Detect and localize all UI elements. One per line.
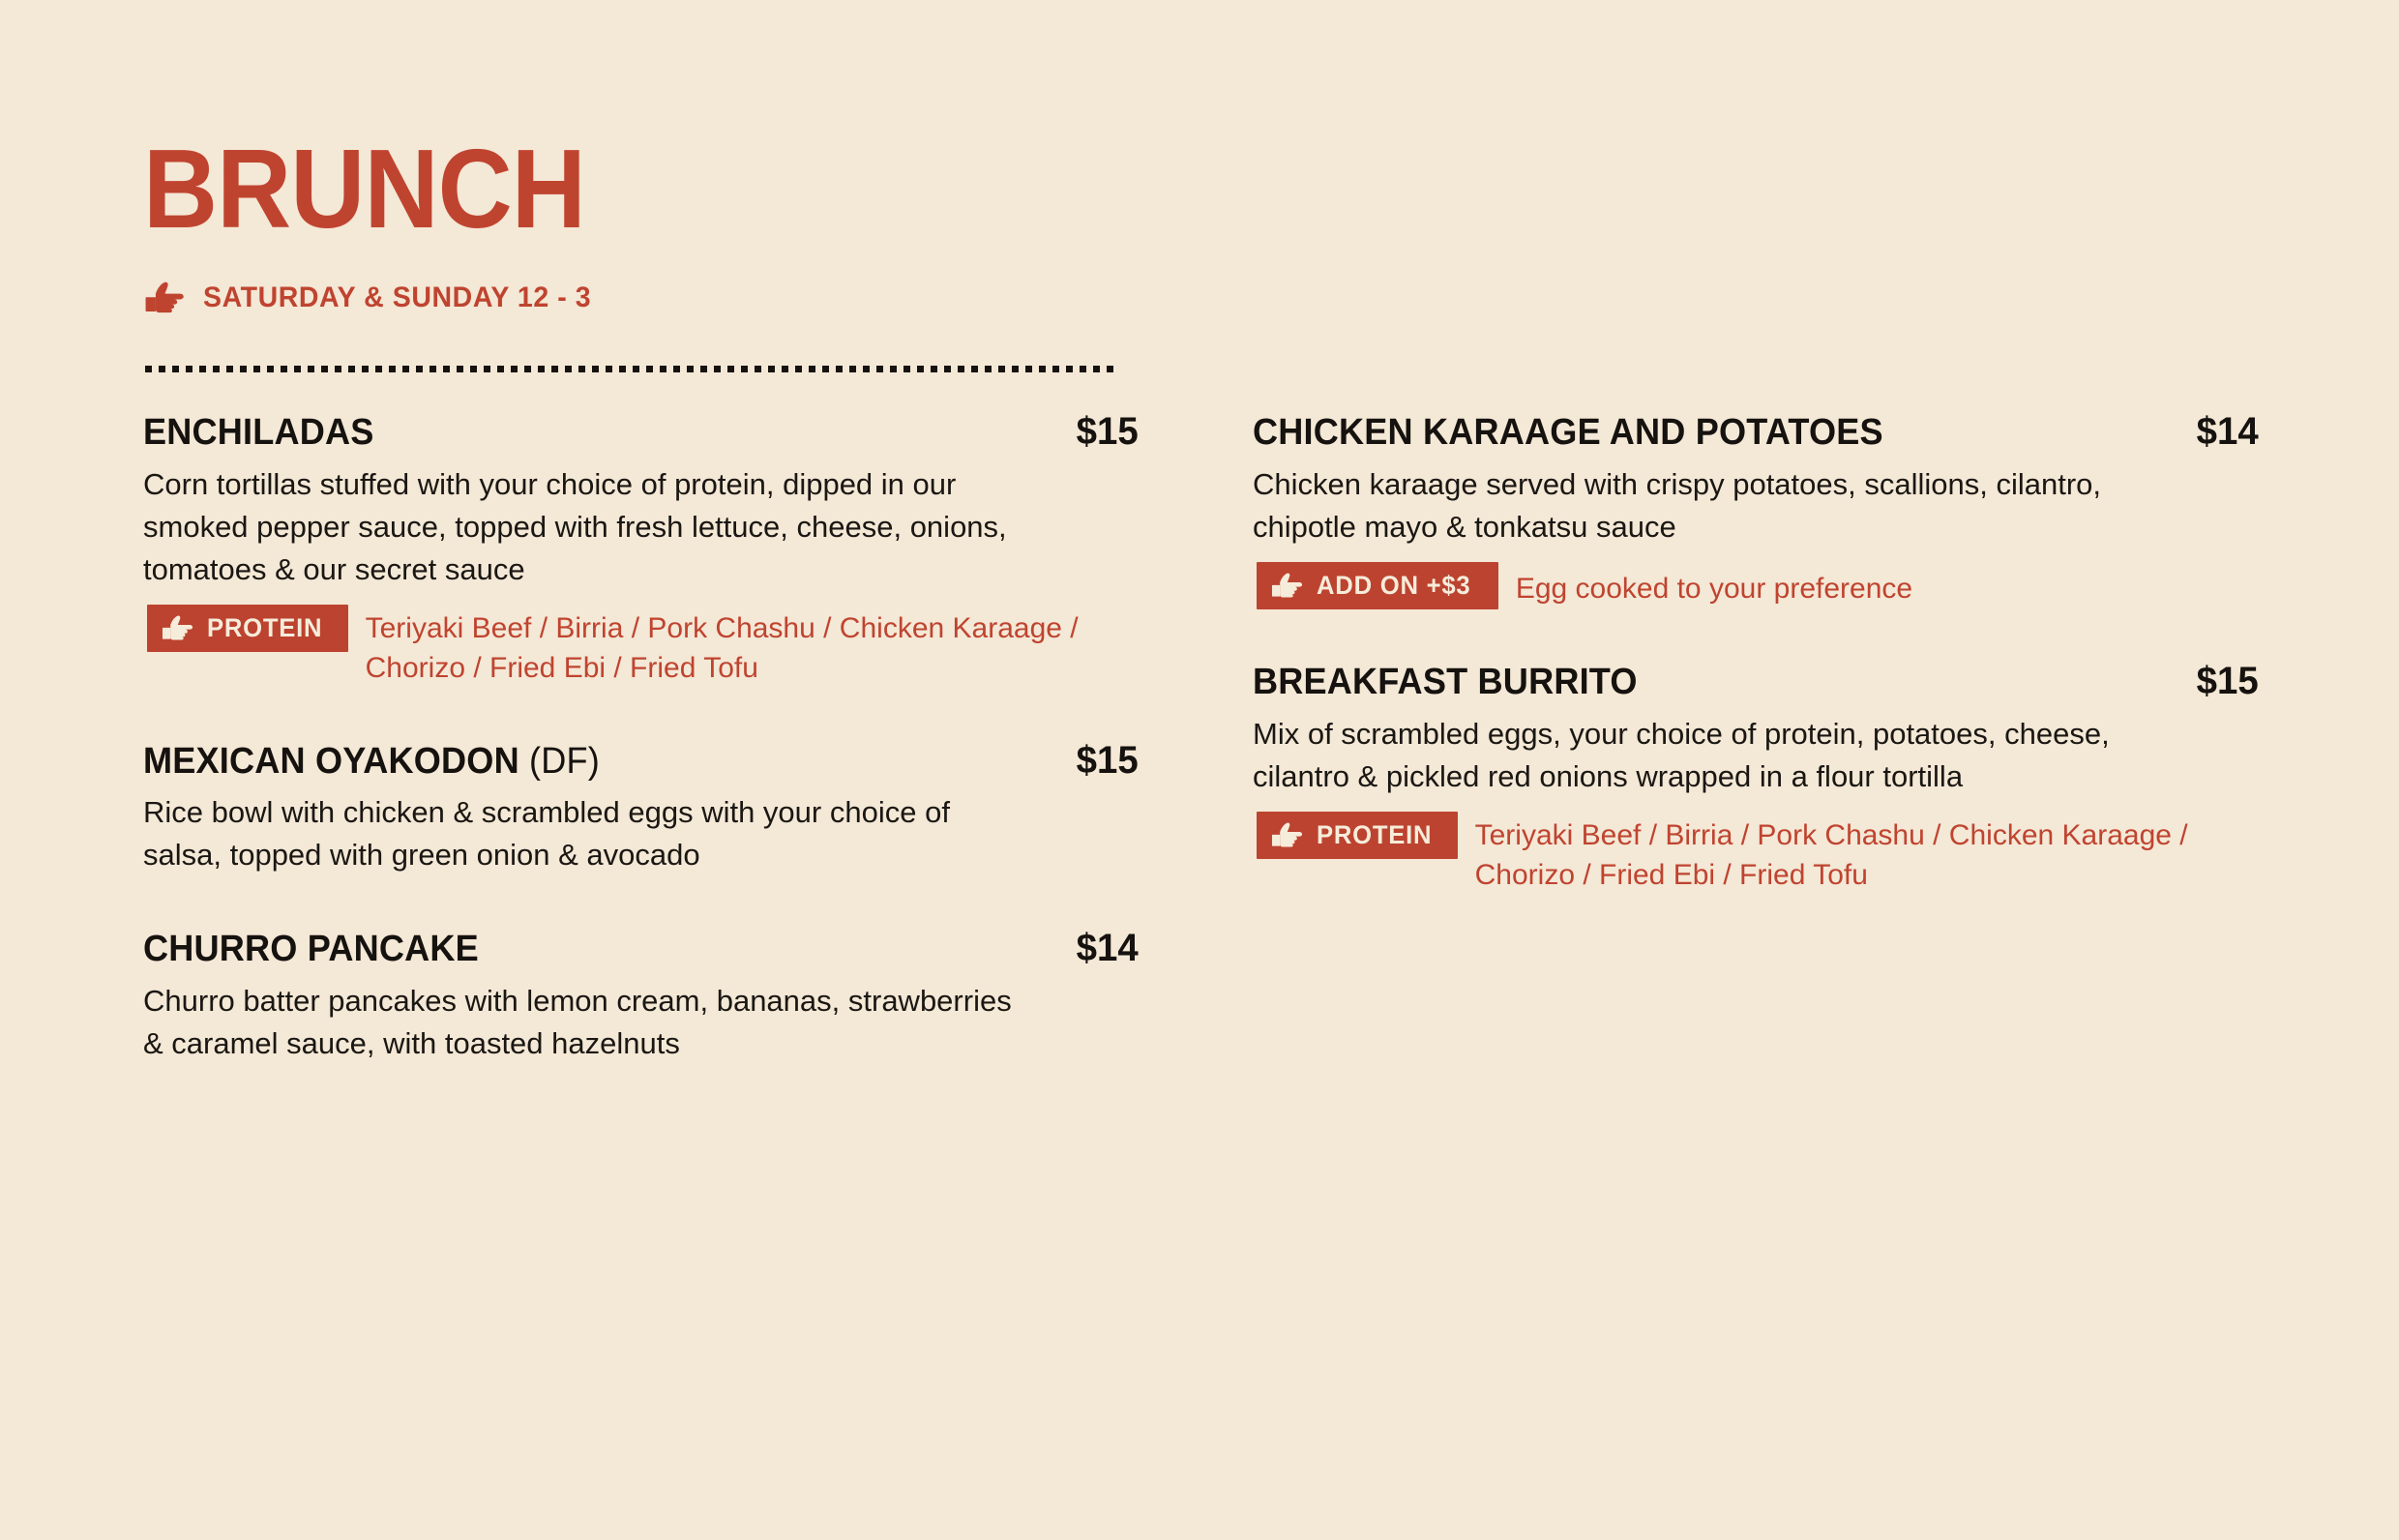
item-name-text: CHICKEN KARAAGE AND POTATOES — [1253, 412, 1883, 453]
hours-row: SATURDAY & SUNDAY 12 - 3 — [143, 280, 1207, 316]
item-price: $14 — [1077, 927, 1139, 970]
item-name-text: CHURRO PANCAKE — [143, 929, 479, 969]
item-name-suffix: (DF) — [519, 741, 600, 782]
menu-item: CHURRO PANCAKE $14 Churro batter pancake… — [143, 927, 1144, 1065]
item-header-row: BREAKFAST BURRITO $15 — [1253, 660, 2259, 703]
item-description: Corn tortillas stuffed with your choice … — [143, 463, 1014, 591]
add-on-description: Egg cooked to your preference — [1516, 562, 1912, 608]
item-header-row: CHICKEN KARAAGE AND POTATOES $14 — [1253, 410, 2259, 454]
item-header-row: CHURRO PANCAKE $14 — [143, 927, 1144, 970]
protein-options: Teriyaki Beef / Birria / Pork Chashu / C… — [366, 605, 1144, 689]
menu-page: BRUNCH SATURDAY & SUNDAY 12 - 3 ENCHILAD… — [0, 0, 2399, 1540]
menu-header: BRUNCH SATURDAY & SUNDAY 12 - 3 — [143, 137, 1207, 316]
item-name: MEXICAN OYAKODON (DF) — [143, 741, 600, 783]
item-tag-row: ADD ON +$3 Egg cooked to your preference — [1257, 562, 2259, 609]
item-price: $15 — [1077, 410, 1139, 454]
pointing-hand-right-icon — [1270, 822, 1307, 848]
item-name: CHURRO PANCAKE — [143, 929, 479, 970]
menu-item: MEXICAN OYAKODON (DF) $15 Rice bowl with… — [143, 739, 1144, 877]
item-description: Chicken karaage served with crispy potat… — [1253, 463, 2123, 548]
item-name: ENCHILADAS — [143, 412, 374, 454]
menu-item: CHICKEN KARAAGE AND POTATOES $14 Chicken… — [1253, 410, 2259, 609]
tag-label: PROTEIN — [207, 613, 322, 643]
item-tag-row: PROTEIN Teriyaki Beef / Birria / Pork Ch… — [1257, 812, 2259, 896]
tag-label: ADD ON +$3 — [1317, 571, 1470, 601]
item-price: $15 — [2197, 660, 2259, 703]
pointing-hand-right-icon — [143, 281, 190, 314]
item-name: BREAKFAST BURRITO — [1253, 662, 1638, 703]
protein-options: Teriyaki Beef / Birria / Pork Chashu / C… — [1475, 812, 2259, 896]
item-name-text: MEXICAN OYAKODON — [143, 741, 519, 782]
item-description: Mix of scrambled eggs, your choice of pr… — [1253, 713, 2123, 798]
item-header-row: MEXICAN OYAKODON (DF) $15 — [143, 739, 1144, 783]
pointing-hand-right-icon — [161, 615, 197, 641]
menu-item: BREAKFAST BURRITO $15 Mix of scrambled e… — [1253, 660, 2259, 896]
menu-column-left: ENCHILADAS $15 Corn tortillas stuffed wi… — [143, 410, 1144, 1065]
menu-item: ENCHILADAS $15 Corn tortillas stuffed wi… — [143, 410, 1144, 689]
item-name: CHICKEN KARAAGE AND POTATOES — [1253, 412, 1883, 454]
protein-badge: PROTEIN — [1257, 812, 1458, 859]
menu-column-right: CHICKEN KARAAGE AND POTATOES $14 Chicken… — [1253, 410, 2259, 895]
item-price: $15 — [1077, 739, 1139, 783]
item-price: $14 — [2197, 410, 2259, 454]
item-header-row: ENCHILADAS $15 — [143, 410, 1144, 454]
item-name-text: ENCHILADAS — [143, 412, 374, 453]
protein-badge: PROTEIN — [147, 605, 348, 652]
item-name-text: BREAKFAST BURRITO — [1253, 662, 1638, 702]
add-on-badge: ADD ON +$3 — [1257, 562, 1498, 609]
item-description: Rice bowl with chicken & scrambled eggs … — [143, 791, 1014, 876]
pointing-hand-right-icon — [1270, 573, 1307, 599]
service-hours: SATURDAY & SUNDAY 12 - 3 — [203, 281, 591, 314]
dotted-divider — [145, 366, 1120, 372]
item-tag-row: PROTEIN Teriyaki Beef / Birria / Pork Ch… — [147, 605, 1144, 689]
tag-label: PROTEIN — [1317, 820, 1432, 850]
item-description: Churro batter pancakes with lemon cream,… — [143, 980, 1014, 1065]
page-title: BRUNCH — [143, 137, 1122, 241]
